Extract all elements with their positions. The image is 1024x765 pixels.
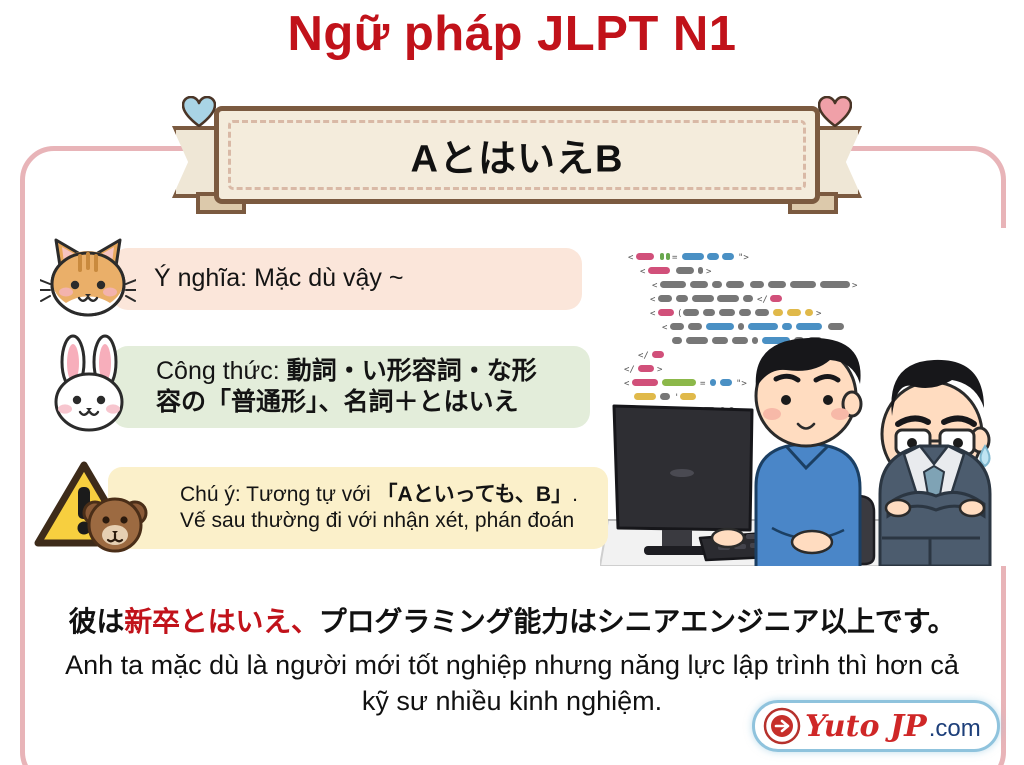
note-text: Chú ý: Tương tự với 「Aといっても、B」.Vế sau th… [180,482,578,533]
grammar-card: Ngữ pháp JLPT N1 AとはいえB [0,0,1024,765]
logo-tld-text: .com [929,715,981,742]
warning-bear-icon [32,455,160,560]
svg-text:<: < [650,309,656,319]
formula-row: Công thức: 動詞・い形容詞・な形容の「普通形」、名詞＋とはいえ [40,334,590,439]
meaning-row: Ý nghĩa: Mặc dù vậy ~ [40,232,582,325]
svg-text:</: </ [757,295,768,305]
svg-text:>: > [852,281,858,291]
note-row: Chú ý: Tương tự với 「Aといっても、B」.Vế sau th… [32,455,608,560]
svg-text:</: </ [638,351,649,361]
example-jp: 彼は新卒とはいえ、プログラミング能力はシニアエンジニア以上です。 [0,600,1024,640]
formula-label: Công thức: [156,357,287,385]
heart-icon-left [182,96,216,127]
logo-name-text: Yuto JP [805,709,927,744]
svg-text:">: "> [736,379,747,389]
svg-text:=: = [672,253,678,263]
svg-text:=: = [700,379,706,389]
meaning-box: Ý nghĩa: Mặc dù vậy ~ [112,248,582,310]
formula-box: Công thức: 動詞・い形容詞・な形容の「普通形」、名詞＋とはいえ [112,346,590,428]
formula-text: Công thức: 動詞・い形容詞・な形容の「普通形」、名詞＋とはいえ [156,356,537,417]
svg-text:<: < [624,379,630,389]
meaning-text: Ý nghĩa: Mặc dù vậy ~ [154,263,403,294]
svg-text:">: "> [738,253,749,263]
example-jp-highlight: 新卒とはいえ、 [124,606,319,637]
banner-panel: AとはいえB [214,106,820,204]
svg-text:<: < [662,323,668,333]
programmer-illustration: < = "> < > < > < </ < ( [600,228,1010,566]
svg-text:>: > [816,309,822,319]
svg-text:(: ( [677,309,682,319]
site-logo[interactable]: Yuto JP.com [752,700,1000,752]
page-title: Ngữ pháp JLPT N1 [0,8,1024,62]
logo-mark-icon [763,707,801,745]
formula-jp-1: 動詞・い形容詞・な形 [287,357,537,385]
svg-text:<: < [628,253,634,263]
svg-text:<: < [650,295,656,305]
note-box: Chú ý: Tương tự với 「Aといっても、B」.Vế sau th… [108,467,608,549]
svg-text:<: < [640,267,646,277]
cat-icon [40,232,136,325]
svg-text:</: </ [624,365,635,375]
grammar-banner: AとはいえB [172,96,862,214]
svg-text:<: < [652,281,658,291]
rabbit-icon [40,334,138,439]
svg-text:>: > [706,267,712,277]
note-jp: 「Aといっても、B」 [377,483,573,506]
note-period: . [572,483,578,506]
formula-jp-2: 容の「普通形」、名詞＋とはいえ [156,388,519,416]
heart-icon-right [818,96,852,127]
example-jp-part2: プログラミング能力はシニアエンジニア以上です。 [319,606,956,637]
svg-text:>: > [657,365,663,375]
note-line2: Vế sau thường đi với nhận xét, phán đoán [180,509,574,532]
example-jp-part1: 彼は [69,606,125,637]
note-label: Chú ý: Tương tự với [180,483,377,506]
grammar-point-label: AとはいえB [219,128,815,183]
logo-name: Yuto JP.com [805,709,981,744]
svg-text:': ' [674,393,679,403]
